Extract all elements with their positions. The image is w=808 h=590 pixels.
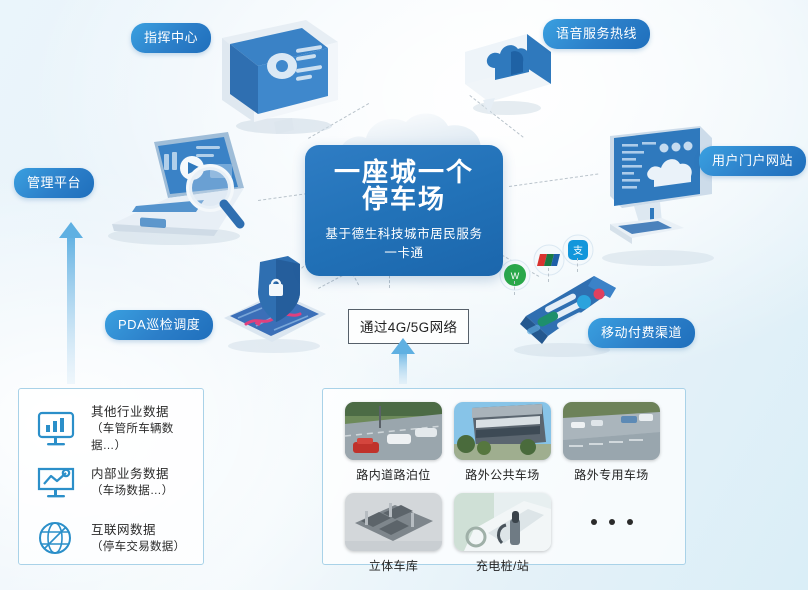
connector-line (509, 173, 598, 187)
list-item-label: 其他行业数据 (91, 403, 203, 421)
connector-line (577, 258, 578, 272)
monitor-line-chart-icon (33, 461, 79, 503)
isometric-monitor-gear-icon (214, 18, 344, 136)
public-parking-building-image (454, 402, 551, 460)
label-management-platform[interactable]: 管理平台 (14, 168, 94, 198)
ellipsis-dots-icon (563, 493, 660, 551)
isometric-laptop-play-icon (92, 132, 257, 247)
list-item-label: 路外公共车场 (454, 466, 551, 483)
list-item-label: 路内道路泊位 (345, 466, 442, 483)
list-item-sublabel: （停车交易数据） (91, 539, 185, 556)
list-item-label: 路外专用车场 (563, 466, 660, 483)
label-command-center[interactable]: 指挥中心 (131, 23, 211, 53)
svg-text:W: W (511, 271, 520, 281)
wechat-pay-icon: W (498, 258, 532, 292)
list-item[interactable]: 路外公共车场 (454, 402, 551, 483)
list-item[interactable]: 充电桩/站 (454, 493, 551, 574)
dedicated-parking-lot-image (563, 402, 660, 460)
mechanical-parking-garage-image (345, 493, 442, 551)
list-item-sublabel: （车场数据…） (91, 483, 174, 500)
list-item-label: 互联网数据 (91, 521, 185, 539)
data-sources-panel: 其他行业数据 （车管所车辆数据…） 内部业务数据 （车场数据…） (18, 388, 204, 565)
central-banner: 一座城一个停车场 基于德生科技城市居民服务一卡通 (305, 145, 503, 276)
list-item[interactable]: 路外专用车场 (563, 402, 660, 483)
banner-title: 一座城一个停车场 (325, 159, 483, 214)
label-pda-patrol[interactable]: PDA巡检调度 (105, 310, 213, 340)
alipay-icon: 支 (561, 233, 595, 267)
label-user-portal[interactable]: 用户门户网站 (699, 146, 806, 176)
list-item-label: 内部业务数据 (91, 465, 174, 483)
isometric-desktop-cloud-icon (588, 124, 728, 269)
network-up-arrow-icon (390, 338, 416, 384)
street-side-parking-image (345, 402, 442, 460)
connector-line (514, 281, 515, 295)
list-item: 互联网数据 （停车交易数据） (33, 517, 185, 559)
data-flow-up-arrow-icon (58, 222, 84, 384)
list-item-label: 立体车库 (345, 557, 442, 574)
list-item: 内部业务数据 （车场数据…） (33, 461, 174, 503)
svg-text:支: 支 (573, 245, 583, 257)
list-item-sublabel: （车管所车辆数据…） (91, 421, 203, 454)
banner-subtitle: 基于德生科技城市居民服务一卡通 (325, 223, 483, 261)
list-item-label: 充电桩/站 (454, 557, 551, 574)
list-item[interactable]: 路内道路泊位 (345, 402, 442, 483)
parking-types-grid: 路内道路泊位 路外公共车场 (345, 402, 675, 574)
label-mobile-payment[interactable]: 移动付费渠道 (588, 318, 695, 348)
list-item: 其他行业数据 （车管所车辆数据…） (33, 403, 203, 454)
infographic-canvas: W 支 一座城一个停车场 基于德生科技城市居民服务一卡通 指挥中心 语音服务热线… (0, 0, 808, 590)
monitor-bar-chart-icon (33, 408, 79, 450)
connector-line (548, 268, 549, 282)
list-item (563, 493, 660, 574)
globe-network-icon (33, 517, 79, 559)
ev-charging-station-image (454, 493, 551, 551)
label-voice-hotline[interactable]: 语音服务热线 (543, 19, 650, 49)
list-item[interactable]: 立体车库 (345, 493, 442, 574)
